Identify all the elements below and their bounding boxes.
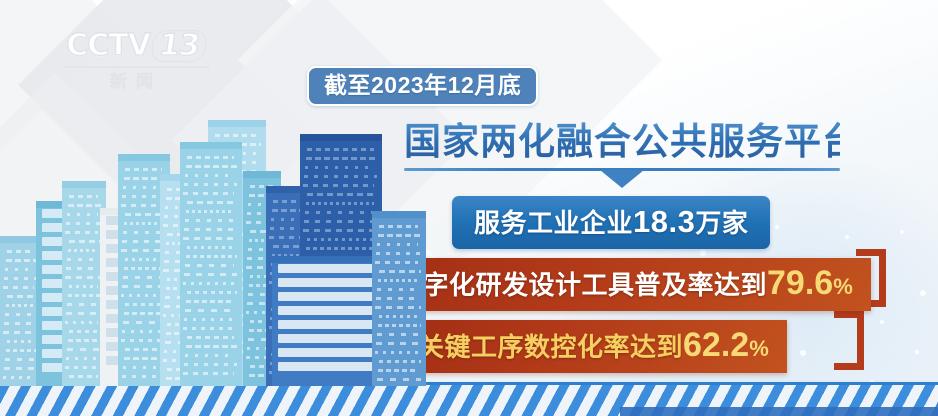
building-window-row — [377, 333, 418, 336]
bracket-segment — [857, 311, 864, 370]
building-window-row — [379, 315, 418, 318]
building-window-row — [121, 339, 165, 342]
building-window-row — [303, 184, 374, 187]
channel-number: 13 — [150, 30, 208, 62]
building-window-row — [68, 294, 101, 297]
building-window-row — [5, 313, 37, 316]
building-window-row — [69, 375, 98, 378]
building-window-row — [186, 255, 237, 258]
building-window-row — [187, 156, 234, 159]
building-window-row — [122, 240, 162, 243]
background-sparkle — [700, 250, 706, 256]
building-window-row — [185, 219, 237, 222]
stat-banner-primary: 服务工业企业18.3万家 — [452, 196, 770, 249]
building-window-row — [183, 327, 237, 330]
building-window-row — [124, 357, 165, 360]
building-floor-bar — [278, 278, 376, 287]
building-window-row — [186, 345, 237, 348]
building-windows — [180, 142, 242, 386]
building-window-row — [3, 331, 37, 334]
bracket-segment — [834, 311, 864, 318]
building-window-row — [125, 348, 162, 351]
bracket-segment — [834, 363, 864, 370]
building-window-row — [378, 324, 421, 327]
building-window-row — [69, 240, 101, 243]
building-floor-bar — [278, 306, 376, 315]
building-window-row — [122, 195, 165, 198]
infographic-canvas: CCTV13 新闻 截至2023年12月底 国家两化融合公共服务平台 服务工业企… — [0, 0, 938, 416]
bracket-segment — [856, 249, 886, 256]
building-window-row — [66, 357, 98, 360]
building-window-row — [7, 340, 34, 343]
building-window-row — [184, 228, 234, 231]
building-window-row — [123, 231, 165, 234]
building-window-row — [121, 204, 162, 207]
building-window-row — [67, 213, 98, 216]
building-window-row — [305, 211, 377, 214]
building-window-row — [379, 225, 418, 228]
building-window-row — [303, 229, 377, 232]
building-window-row — [378, 234, 421, 237]
building-window-row — [305, 166, 374, 169]
building-window-row — [65, 321, 98, 324]
building-window-row — [304, 220, 374, 223]
building-window-row — [5, 358, 34, 361]
building-window-row — [183, 372, 234, 375]
skyline-building — [180, 142, 242, 386]
building-window-row — [6, 349, 37, 352]
chevron-down-icon — [600, 170, 644, 188]
stat-primary-suffix: 万家 — [695, 208, 748, 238]
stat-row-1-value: 79.6 — [767, 264, 833, 302]
building-window-row — [184, 363, 237, 366]
building-window-row — [6, 259, 37, 262]
building-window-row — [306, 247, 377, 250]
building-window-row — [187, 336, 234, 339]
building-window-row — [377, 288, 421, 291]
heading-block: 国家两化融合公共服务平台 — [404, 122, 840, 171]
city-skyline-illustration — [0, 118, 440, 386]
building-window-row — [3, 376, 34, 379]
building-window-row — [187, 201, 237, 204]
date-tag: 截至2023年12月底 — [307, 66, 538, 106]
background-sparkle — [915, 350, 919, 354]
stat-row-2-unit: % — [749, 336, 769, 361]
building-window-row — [6, 304, 34, 307]
building-floor-bar — [278, 362, 376, 371]
building-window-row — [375, 306, 421, 309]
building-floor-bar — [278, 334, 376, 343]
channel-logo-text: CCTV — [66, 28, 150, 63]
channel-logo-icon: CCTV13 — [56, 30, 216, 62]
bracket-segment — [879, 249, 886, 307]
building-window-row — [187, 291, 237, 294]
building-window-row — [4, 322, 34, 325]
building-window-row — [186, 300, 234, 303]
building-window-row — [376, 252, 421, 255]
building-window-row — [186, 210, 234, 213]
building-window-row — [122, 330, 162, 333]
building-window-row — [183, 282, 234, 285]
stat-primary-value: 18.3 — [633, 204, 695, 239]
building-window-row — [307, 238, 374, 241]
stat-row-2-label: 关键工序数控化率达到 — [418, 332, 683, 362]
building-window-row — [378, 279, 418, 282]
building-window-row — [65, 366, 101, 369]
building-window-row — [3, 286, 34, 289]
building-floor-bar — [278, 292, 376, 301]
building-window-row — [185, 264, 234, 267]
skyline-building — [272, 256, 382, 386]
building-window-row — [124, 222, 162, 225]
building-window-row — [375, 261, 418, 264]
building-window-row — [184, 183, 237, 186]
building-window-row — [68, 204, 101, 207]
building-window-row — [4, 277, 37, 280]
building-window-row — [307, 148, 374, 151]
stat-banner-row-2: 关键工序数控化率达到62.2% — [400, 320, 787, 373]
building-window-row — [185, 174, 234, 177]
building-window-row — [307, 193, 377, 196]
building-window-row — [186, 165, 237, 168]
building-window-row — [378, 369, 418, 372]
building-window-row — [379, 360, 421, 363]
skyline-building — [372, 211, 426, 386]
building-window-row — [124, 177, 165, 180]
background-sparkle — [800, 350, 806, 356]
building-window-row — [376, 297, 418, 300]
background-sparkle — [775, 225, 779, 229]
building-window-row — [69, 285, 98, 288]
building-window-row — [377, 378, 421, 381]
building-window-row — [125, 213, 165, 216]
building-window-row — [125, 303, 165, 306]
building-window-row — [184, 273, 237, 276]
stat-row-2-value: 62.2 — [683, 326, 749, 364]
building-window-row — [185, 354, 234, 357]
stripe-band-accent — [620, 407, 938, 416]
building-window-row — [123, 366, 162, 369]
building-window-row — [121, 294, 162, 297]
building-window-row — [183, 192, 234, 195]
building-window-row — [187, 246, 234, 249]
building-window-row — [7, 250, 34, 253]
building-window-row — [67, 303, 98, 306]
building-window-row — [4, 367, 37, 370]
building-window-row — [123, 276, 162, 279]
building-window-row — [125, 168, 162, 171]
building-floor-bar — [278, 348, 376, 357]
building-window-row — [125, 258, 162, 261]
building-window-row — [122, 285, 165, 288]
building-window-row — [124, 267, 165, 270]
building-window-row — [304, 175, 377, 178]
building-window-row — [7, 295, 37, 298]
stat-primary-prefix: 服务工业企业 — [474, 208, 633, 238]
building-windows — [372, 211, 426, 386]
building-floor-bar — [278, 320, 376, 329]
building-window-row — [215, 134, 258, 137]
background-sparkle — [900, 230, 904, 234]
background-sparkle — [845, 235, 849, 239]
building-window-row — [123, 186, 162, 189]
building-window-row — [5, 268, 34, 271]
background-sparkle — [880, 320, 884, 324]
building-floor-bar — [278, 264, 376, 273]
building-window-row — [121, 249, 165, 252]
building-window-row — [377, 243, 418, 246]
date-tag-label: 截至2023年12月底 — [324, 73, 521, 97]
building-window-row — [68, 339, 98, 342]
building-window-row — [183, 237, 237, 240]
stat-row-1-label: 数字化研发设计工具普及率达到 — [396, 270, 767, 300]
building-window-row — [68, 249, 98, 252]
building-window-row — [185, 309, 237, 312]
building-window-row — [66, 222, 101, 225]
building-window-row — [306, 157, 377, 160]
stat-row-1-unit: % — [833, 274, 853, 299]
page-title: 国家两化融合公共服务平台 — [404, 122, 840, 163]
building-window-row — [184, 318, 234, 321]
building-window-row — [123, 321, 165, 324]
building-window-row — [66, 267, 98, 270]
building-window-row — [122, 375, 165, 378]
building-window-row — [65, 231, 98, 234]
building-window-row — [66, 312, 101, 315]
building-window-row — [379, 270, 421, 273]
building-window-row — [124, 312, 162, 315]
building-window-row — [69, 330, 101, 333]
building-window-row — [67, 258, 101, 261]
watermark-divider — [62, 66, 210, 68]
building-window-row — [375, 351, 418, 354]
background-sparkle — [920, 290, 926, 296]
building-window-row — [69, 195, 98, 198]
building-window-row — [67, 348, 101, 351]
channel-subtitle: 新闻 — [56, 73, 216, 90]
building-window-row — [306, 202, 374, 205]
building-floor-bars — [272, 256, 382, 386]
building-window-row — [376, 342, 421, 345]
stat-banner-row-1: 数字化研发设计工具普及率达到79.6% — [378, 258, 871, 311]
cctv13-watermark: CCTV13 新闻 — [56, 30, 216, 90]
building-window-row — [65, 276, 101, 279]
